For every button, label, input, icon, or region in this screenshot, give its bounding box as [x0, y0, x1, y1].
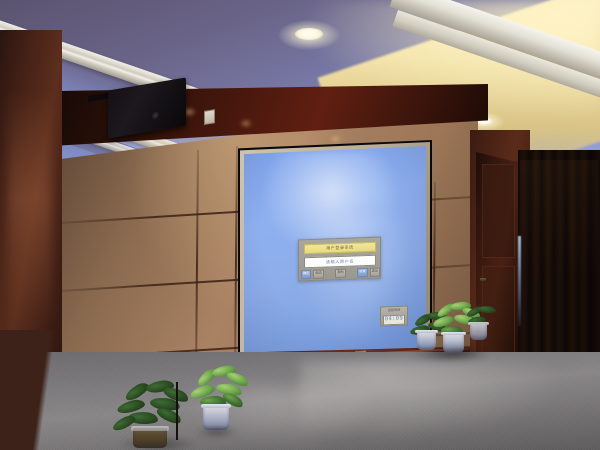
- clock-overlay-label-wrap: 当前时间: [383, 308, 405, 314]
- clock-overlay-time-wrap: 04:09: [383, 314, 405, 325]
- beam-accent-light: [240, 120, 252, 127]
- dialog-button-label: 退出: [372, 270, 378, 273]
- plant-pot-rim: [131, 426, 169, 431]
- clock-overlay-time: 04:09: [385, 316, 403, 322]
- dialog-input-value: 请输入用户名: [326, 259, 354, 264]
- plant-pot: [133, 428, 167, 448]
- wall-plate-av[interactable]: [204, 109, 215, 125]
- dialog-button-cancel[interactable]: 取消: [313, 269, 323, 278]
- downlight-1-glow: [278, 20, 340, 50]
- dialog-title-bar: 用户登录系统: [304, 242, 376, 255]
- plant-pot: [470, 324, 487, 340]
- dialog-input-field[interactable]: 请输入用户名: [304, 255, 376, 269]
- plant-pot-rim: [201, 404, 231, 408]
- dialog-button-exit[interactable]: 退出: [370, 267, 380, 276]
- plant-shadow: [426, 346, 488, 358]
- dialog-title-text: 用户登录系统: [326, 246, 354, 251]
- dialog-button-label: 设置: [359, 270, 365, 273]
- door-gap-light-leak: [518, 236, 521, 326]
- projected-clock-overlay: 当前时间 04:09: [380, 306, 408, 327]
- dialog-button-settings[interactable]: 设置: [357, 268, 367, 277]
- projected-login-dialog[interactable]: 用户登录系统 请输入用户名 确定 取消 帮助 设置: [298, 237, 381, 282]
- plant-shadow: [196, 426, 238, 438]
- beam-accent-light: [330, 136, 341, 142]
- dialog-button-row: 确定 取消 帮助 设置 退出: [301, 268, 380, 279]
- dialog-button-help[interactable]: 帮助: [335, 268, 345, 277]
- plant-pot-rim: [415, 330, 438, 333]
- wood-column-highlight: [8, 90, 52, 330]
- door-handle-icon[interactable]: [480, 278, 486, 281]
- conference-room-photo: 用户登录系统 请输入用户名 确定 取消 帮助 设置: [0, 0, 600, 450]
- plant-pot-rim: [441, 332, 466, 335]
- door-panel-upper: [482, 164, 515, 258]
- dialog-button-label: 确定: [303, 272, 309, 275]
- clock-overlay-label: 当前时间: [388, 309, 401, 313]
- plant-pot-rim: [468, 322, 489, 325]
- dialog-button-confirm[interactable]: 确定: [301, 269, 311, 278]
- plant-support-stake: [176, 382, 178, 440]
- dialog-button-label: 帮助: [337, 271, 343, 274]
- dialog-button-label: 取消: [315, 272, 321, 275]
